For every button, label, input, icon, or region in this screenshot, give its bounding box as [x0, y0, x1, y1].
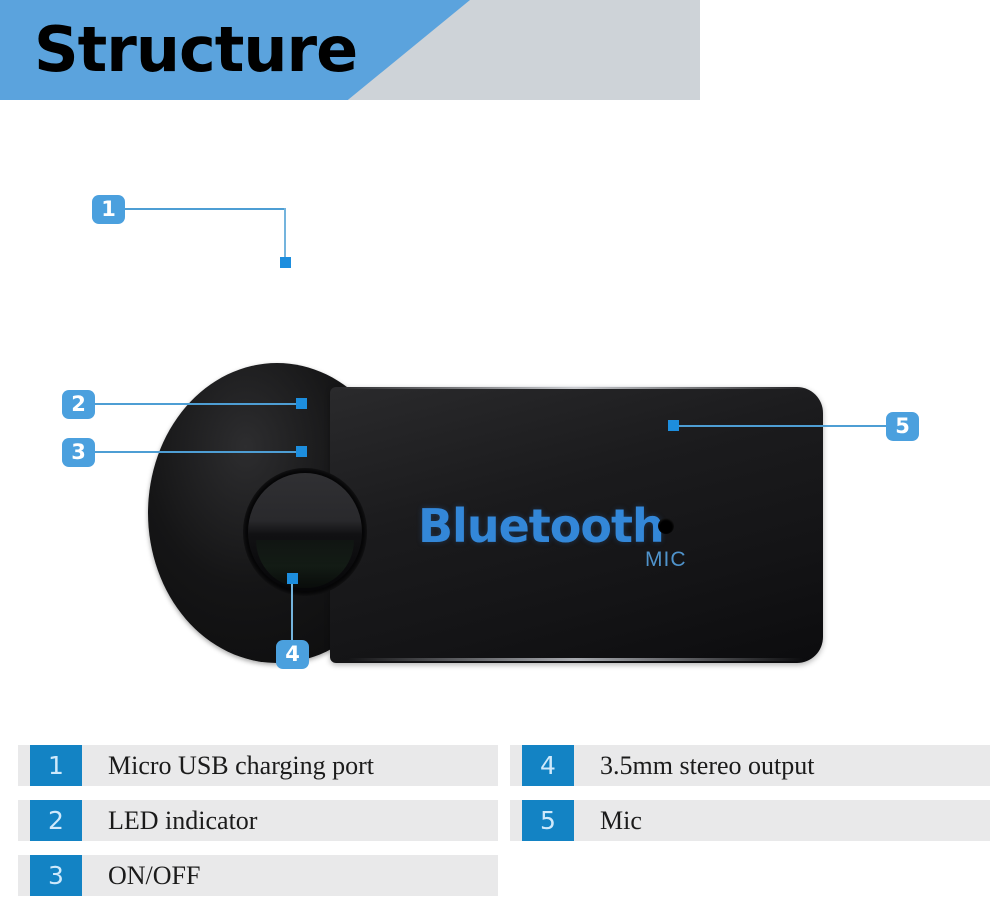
- callout-2-leader-line: [95, 403, 300, 405]
- product-structure-diagram-page: Structure Bluetooth MIC 1 2 3 4: [0, 0, 990, 916]
- callout-2-anchor-dot: [296, 398, 307, 409]
- legend-row[interactable]: 5 Mic: [510, 800, 990, 841]
- legend-label: LED indicator: [108, 800, 257, 841]
- legend-row[interactable]: 1 Micro USB charging port: [18, 745, 498, 786]
- mic-hole-icon: [658, 518, 674, 534]
- callout-5-leader-line: [672, 425, 887, 427]
- callout-badge-2[interactable]: 2: [62, 390, 95, 419]
- legend-badge: 5: [522, 800, 574, 841]
- legend-row[interactable]: 3 ON/OFF: [18, 855, 498, 896]
- device-top-edge-highlight: [340, 386, 810, 389]
- callout-4-leader-line: [291, 581, 293, 641]
- callout-3-leader-line: [95, 451, 300, 453]
- legend-label: Mic: [600, 800, 642, 841]
- legend-label: 3.5mm stereo output: [600, 745, 814, 786]
- legend-table: 1 Micro USB charging port 2 LED indicato…: [0, 745, 990, 916]
- legend-row[interactable]: 2 LED indicator: [18, 800, 498, 841]
- page-title: Structure: [34, 10, 357, 90]
- device-diagram: Bluetooth MIC 1 2 3 4 5: [0, 100, 990, 730]
- callout-3-anchor-dot: [296, 446, 307, 457]
- legend-row[interactable]: 4 3.5mm stereo output: [510, 745, 990, 786]
- callout-1-leader-line: [125, 208, 285, 210]
- legend-badge: 4: [522, 745, 574, 786]
- legend-badge: 3: [30, 855, 82, 896]
- legend-badge: 2: [30, 800, 82, 841]
- legend-label: Micro USB charging port: [108, 745, 374, 786]
- callout-4-anchor-dot: [287, 573, 298, 584]
- device-bottom-edge-highlight: [348, 658, 803, 661]
- bluetooth-wordmark: Bluetooth: [418, 498, 664, 554]
- callout-badge-3[interactable]: 3: [62, 438, 95, 467]
- mic-label: MIC: [645, 548, 687, 572]
- callout-1-anchor-dot: [280, 257, 291, 268]
- callout-badge-4[interactable]: 4: [276, 640, 309, 669]
- callout-1-leader-drop: [284, 208, 286, 260]
- callout-badge-5[interactable]: 5: [886, 412, 919, 441]
- header-banner: Structure: [0, 0, 700, 100]
- legend-column-right: 4 3.5mm stereo output 5 Mic: [510, 745, 990, 855]
- callout-badge-1[interactable]: 1: [92, 195, 125, 224]
- legend-column-left: 1 Micro USB charging port 2 LED indicato…: [18, 745, 498, 910]
- legend-badge: 1: [30, 745, 82, 786]
- legend-label: ON/OFF: [108, 855, 200, 896]
- callout-5-anchor-dot: [668, 420, 679, 431]
